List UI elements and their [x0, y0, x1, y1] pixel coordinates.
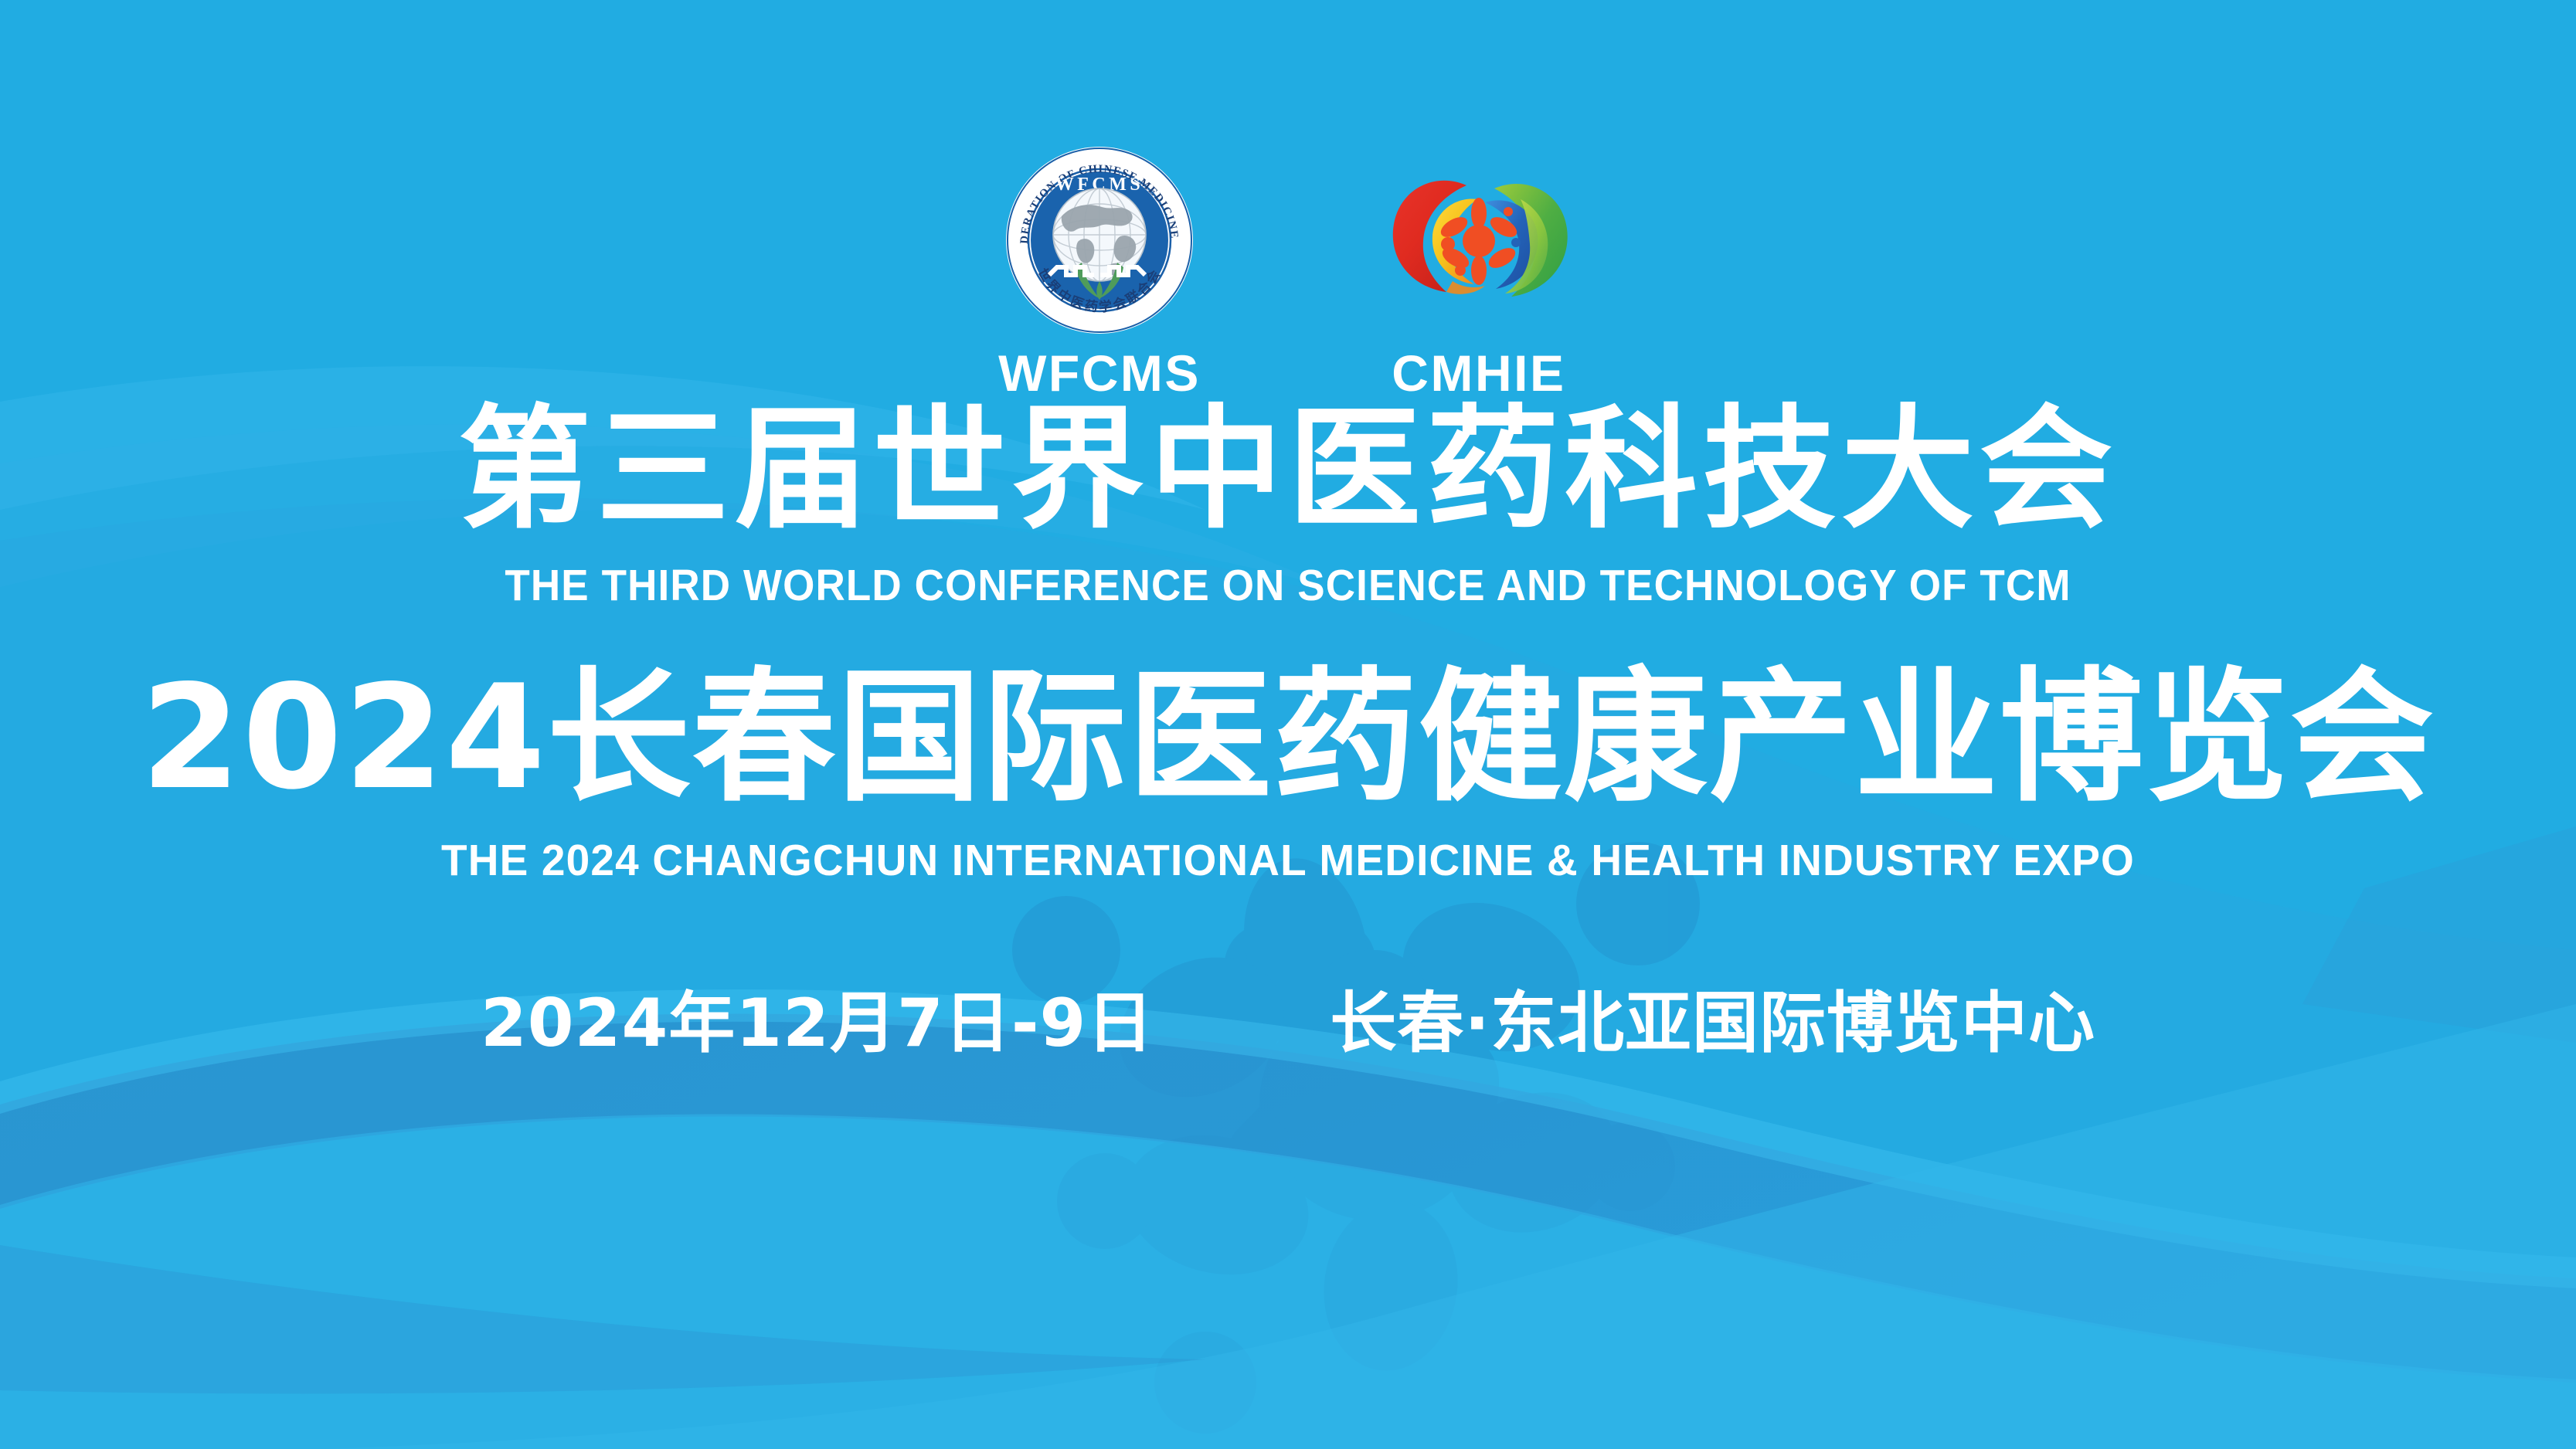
event-venue: 长春·东北亚国际博览中心 [1330, 990, 2095, 1057]
conference-title-block: 第三届世界中医药科技大会 THE THIRD WORLD CONFERENCE … [0, 403, 2576, 608]
expo-title-en: THE 2024 CHANGCHUN INTERNATIONAL MEDICIN… [45, 839, 2530, 883]
conference-banner: WORLD FEDERATION OF CHINESE MEDICINE SOC… [0, 0, 2576, 1449]
logo-row: WORLD FEDERATION OF CHINESE MEDICINE SOC… [0, 145, 2576, 399]
cmhie-logo: CMHIE [1380, 145, 1578, 399]
event-details-row: 2024年12月7日-9日 长春·东北亚国际博览中心 [0, 990, 2576, 1057]
wfcms-logo: WORLD FEDERATION OF CHINESE MEDICINE SOC… [998, 145, 1201, 399]
conference-title-en: THE THIRD WORLD CONFERENCE ON SCIENCE AN… [90, 564, 2486, 608]
globe-emblem-icon: WORLD FEDERATION OF CHINESE MEDICINE SOC… [1004, 145, 1195, 335]
event-date: 2024年12月7日-9日 [481, 990, 1154, 1057]
expo-title-cn: 2024长春国际医药健康产业博览会 [0, 666, 2576, 809]
conference-title-cn: 第三届世界中医药科技大会 [0, 403, 2576, 536]
expo-title-block: 2024长春国际医药健康产业博览会 THE 2024 CHANGCHUN INT… [0, 666, 2576, 883]
ribbon-heart-icon [1380, 145, 1578, 335]
